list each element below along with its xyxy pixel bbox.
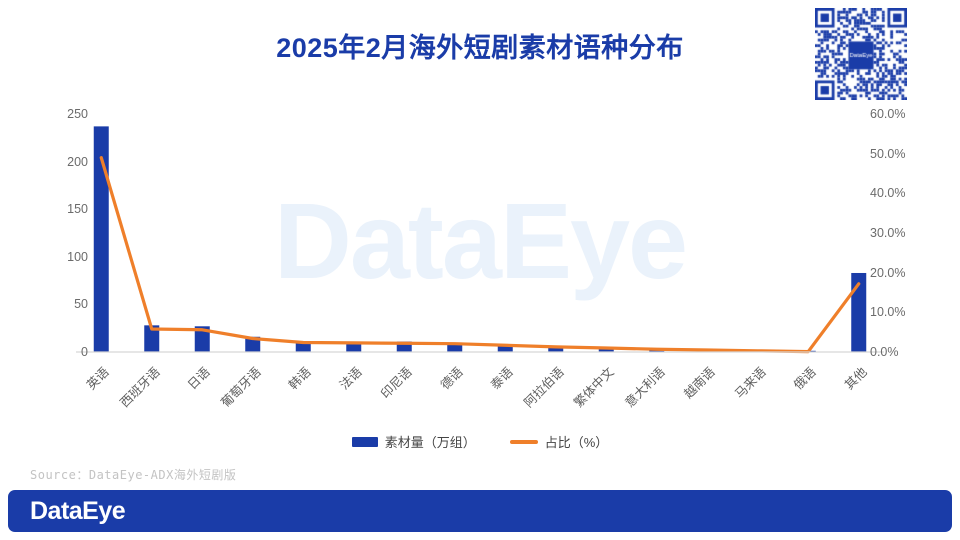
- chart-svg: [0, 100, 960, 380]
- y-axis-right: 0.0%10.0%20.0%30.0%40.0%50.0%60.0%: [866, 114, 922, 352]
- x-axis-tick-label: 俄语: [789, 362, 820, 393]
- qr-code-canvas: [815, 8, 907, 100]
- legend-item-label: 占比（%）: [545, 432, 609, 451]
- y-axis-left: 050100150200250: [36, 114, 92, 352]
- y-axis-left-tick: 250: [67, 107, 88, 121]
- x-axis-tick-label: 繁体中文: [569, 362, 618, 411]
- x-axis-tick-label: 泰语: [486, 362, 517, 393]
- y-axis-right-tick: 30.0%: [870, 226, 905, 240]
- legend-item-bar[interactable]: 素材量（万组）: [352, 432, 476, 451]
- x-axis-tick-label: 阿拉伯语: [518, 362, 567, 411]
- y-axis-left-tick: 50: [74, 297, 88, 311]
- y-axis-right-tick: 60.0%: [870, 107, 905, 121]
- x-axis-tick-label: 印尼语: [376, 362, 416, 402]
- legend-bar-swatch-icon: [352, 437, 378, 447]
- legend-line-swatch-icon: [510, 440, 538, 444]
- x-axis-labels: 英语西班牙语日语葡萄牙语韩语法语印尼语德语泰语阿拉伯语繁体中文意大利语越南语马来…: [0, 356, 960, 422]
- x-axis-tick-label: 其他: [839, 362, 870, 393]
- y-axis-left-tick: 100: [67, 250, 88, 264]
- legend-item-label: 素材量（万组）: [385, 432, 476, 451]
- qr-code[interactable]: [815, 8, 907, 100]
- y-axis-right-tick: 50.0%: [870, 147, 905, 161]
- y-axis-left-tick: 150: [67, 202, 88, 216]
- line-series: [101, 158, 859, 352]
- x-axis-tick-label: 英语: [82, 362, 113, 393]
- y-axis-left-tick: 200: [67, 155, 88, 169]
- x-axis-tick-label: 法语: [334, 362, 365, 393]
- x-axis-tick-label: 德语: [435, 362, 466, 393]
- chart-plot-area: DataEye 050100150200250 0.0%10.0%20.0%30…: [0, 100, 960, 380]
- x-axis-tick-label: 日语: [183, 362, 214, 393]
- x-axis-tick-label: 西班牙语: [114, 362, 163, 411]
- y-axis-right-tick: 20.0%: [870, 266, 905, 280]
- x-axis-tick-label: 越南语: [679, 362, 719, 402]
- x-axis-tick-label: 意大利语: [619, 362, 668, 411]
- y-axis-right-tick: 40.0%: [870, 186, 905, 200]
- footer-logo: DataEye: [30, 497, 125, 526]
- y-axis-right-tick: 10.0%: [870, 305, 905, 319]
- x-axis-tick-label: 韩语: [284, 362, 315, 393]
- x-axis-tick-label: 马来语: [729, 362, 769, 402]
- chart-legend: 素材量（万组） 占比（%）: [0, 432, 960, 451]
- legend-item-line[interactable]: 占比（%）: [510, 432, 609, 451]
- source-note: Source：DataEye-ADX海外短剧版: [30, 466, 236, 483]
- bar-series: [94, 126, 867, 352]
- x-axis-tick-label: 葡萄牙语: [215, 362, 264, 411]
- footer-bar: DataEye: [8, 490, 952, 532]
